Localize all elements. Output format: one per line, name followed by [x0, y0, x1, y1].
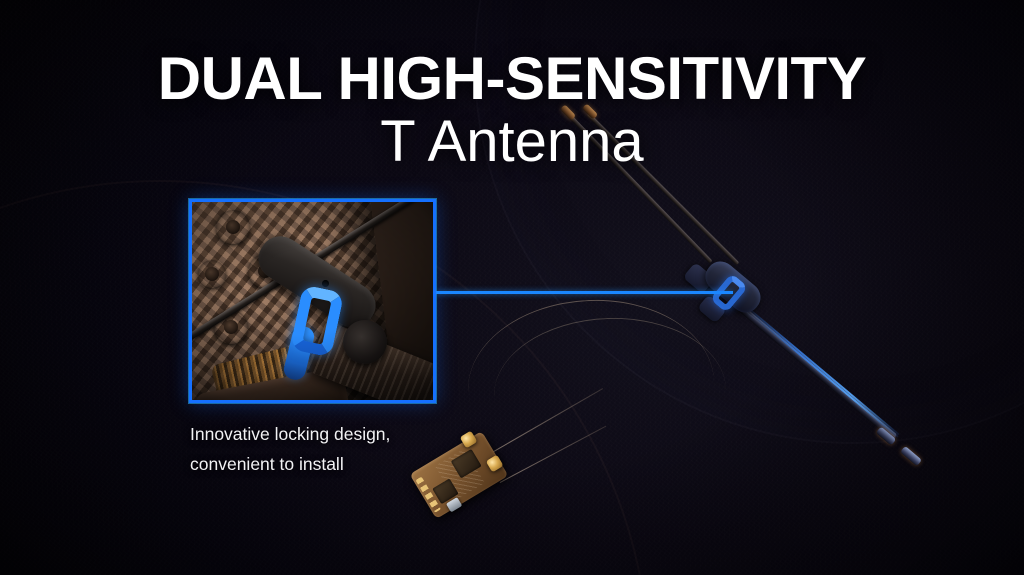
callout-leader-line [436, 291, 733, 294]
banner-stage: DUAL HIGH-SENSITIVITY T Antenna Innovati… [0, 0, 1024, 575]
callout-inset-photo [189, 199, 436, 403]
callout-caption: Innovative locking design, convenient to… [190, 419, 390, 479]
caption-line-1: Innovative locking design, [190, 419, 390, 449]
caption-line-2: convenient to install [190, 449, 390, 479]
inset-vignette [192, 202, 433, 400]
inset-photo-content [192, 202, 433, 400]
